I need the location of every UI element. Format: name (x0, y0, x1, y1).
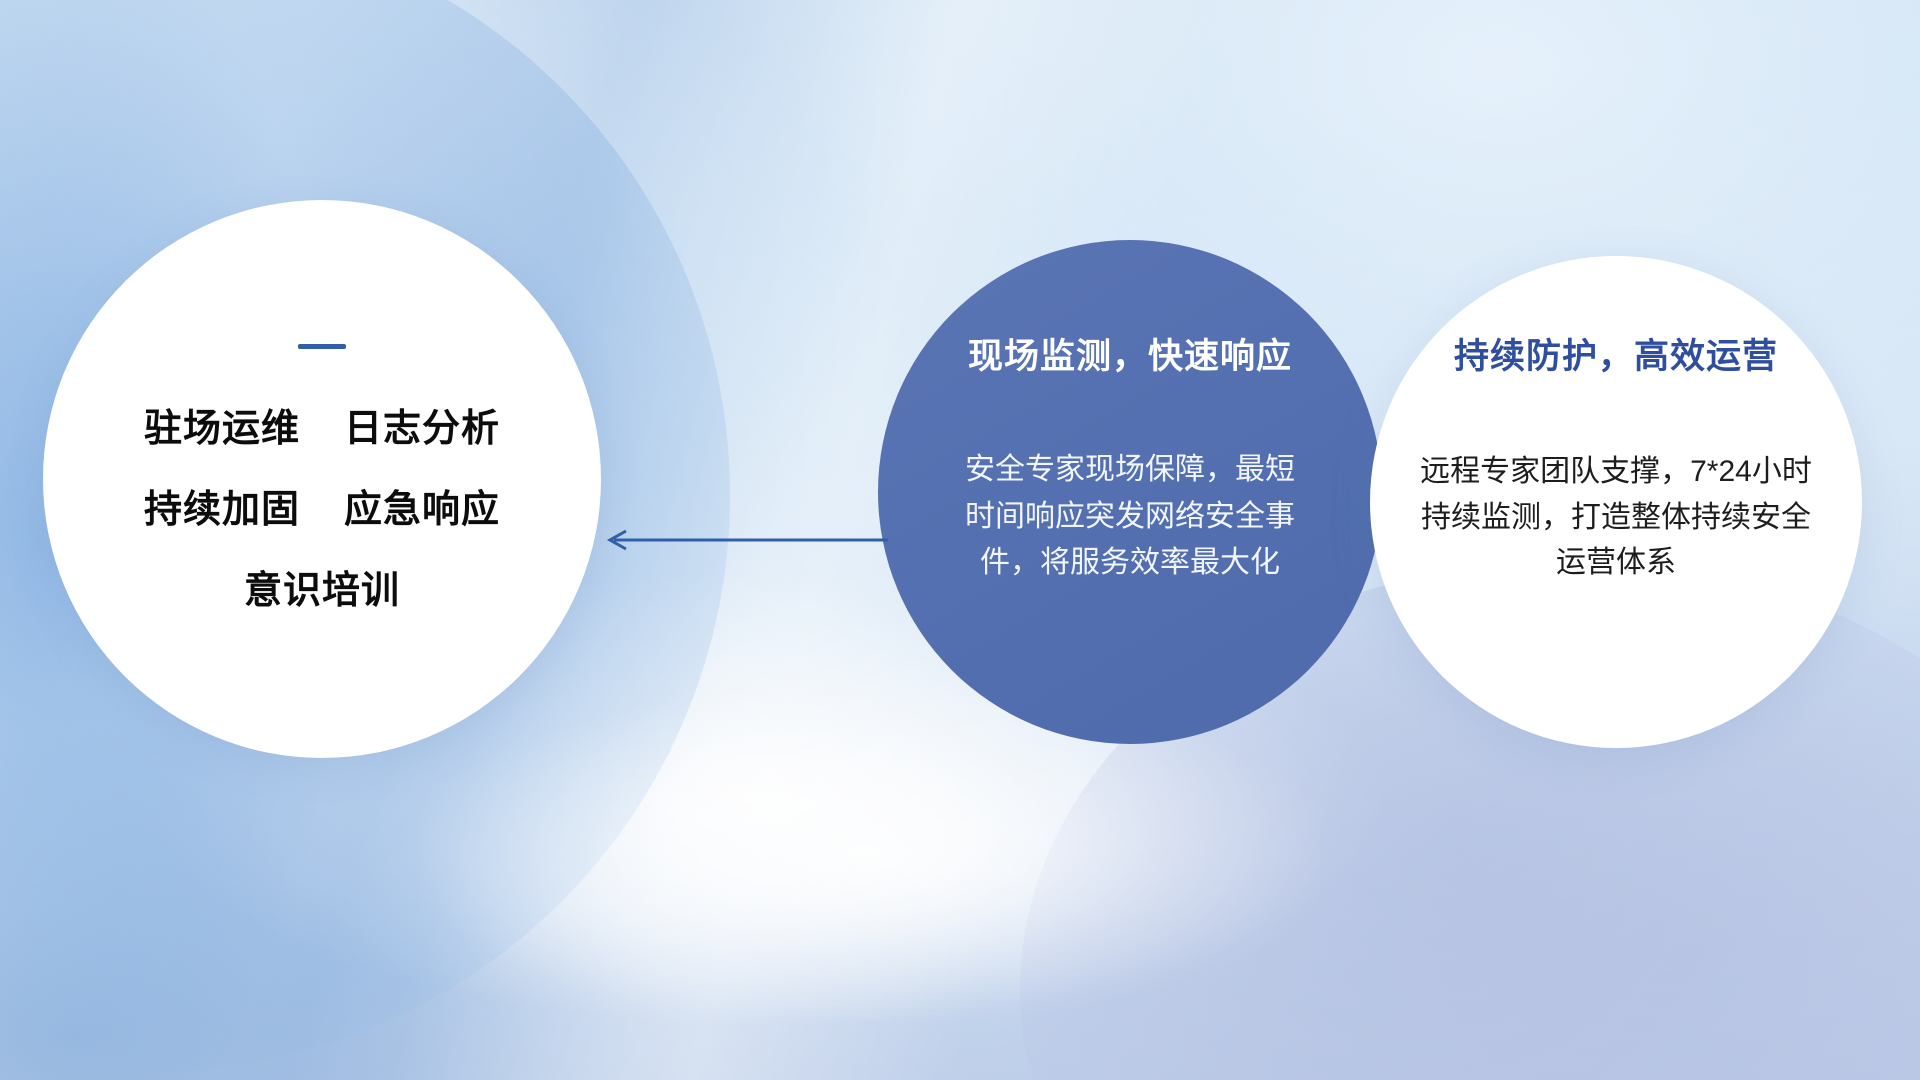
mid-info-circle: 现场监测，快速响应 安全专家现场保障，最短时间响应突发网络安全事件，将服务效率最… (878, 240, 1382, 744)
left-arrow-icon (600, 525, 890, 555)
short-dash-divider-icon (298, 344, 346, 349)
left-info-circle: 驻场运维 日志分析 持续加固 应急响应 意识培训 (43, 200, 601, 758)
keyword-item: 意识培训 (244, 559, 400, 614)
keyword-row: 持续加固 应急响应 (144, 478, 500, 533)
right-info-circle: 持续防护，高效运营 远程专家团队支撑，7*24小时持续监测，打造整体持续安全运营… (1370, 256, 1862, 748)
mid-circle-body: 安全专家现场保障，最短时间响应突发网络安全事件，将服务效率最大化 (965, 447, 1295, 587)
right-circle-title: 持续防护，高效运营 (1454, 328, 1778, 379)
left-circle-keyword-list: 驻场运维 日志分析 持续加固 应急响应 意识培训 (144, 397, 500, 614)
mid-circle-title: 现场监测，快速响应 (968, 328, 1292, 379)
keyword-item: 持续加固 (144, 478, 300, 533)
keyword-row: 驻场运维 日志分析 (144, 397, 500, 452)
keyword-item: 应急响应 (344, 478, 500, 533)
keyword-item: 驻场运维 (144, 397, 300, 452)
background-bottom-glow (420, 690, 1320, 1020)
keyword-item: 日志分析 (344, 397, 500, 452)
right-circle-body: 远程专家团队支撑，7*24小时持续监测，打造整体持续安全运营体系 (1416, 449, 1816, 586)
keyword-row: 意识培训 (244, 559, 400, 614)
